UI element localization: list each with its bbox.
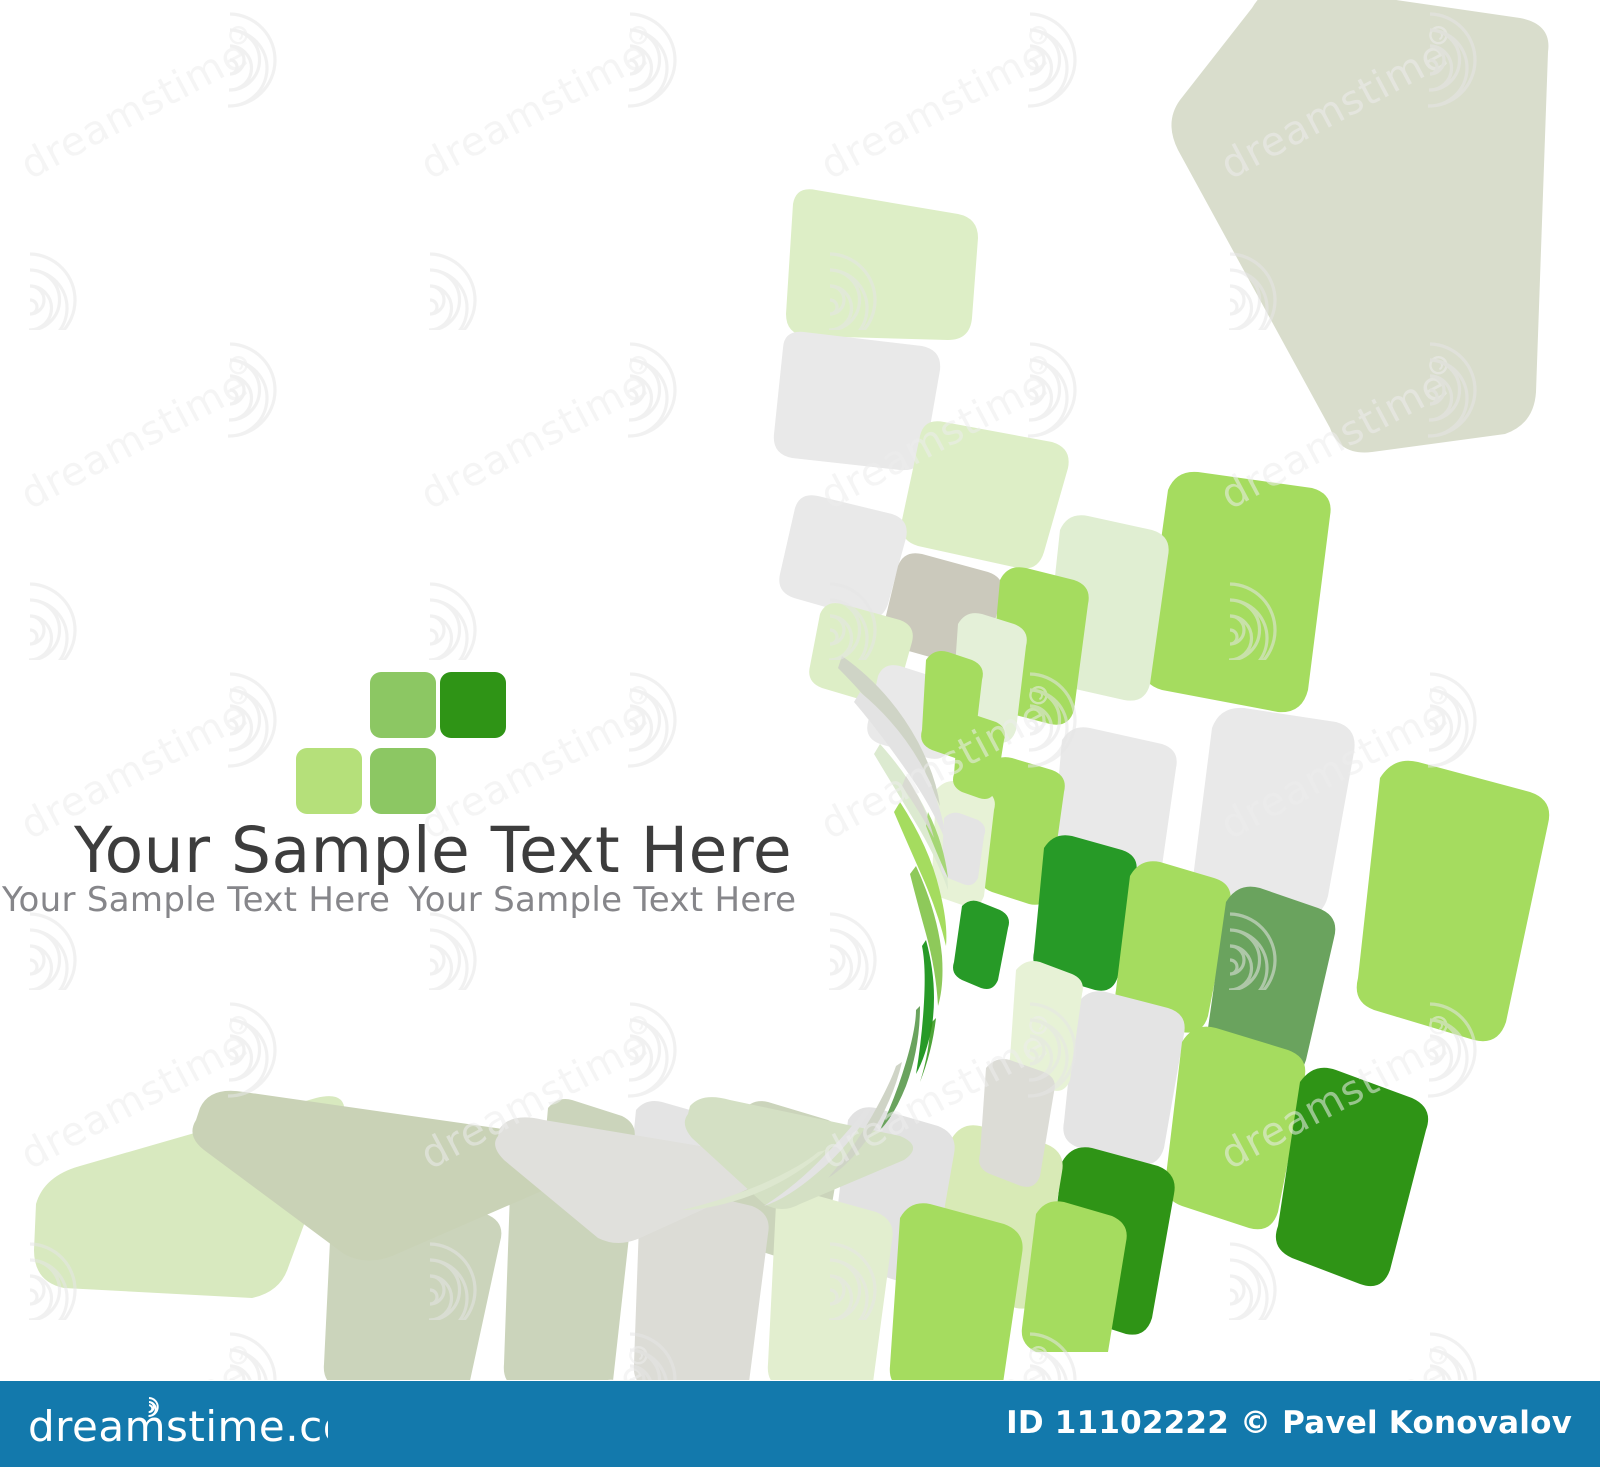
dreamstime-wordmark-logo: dreamstime.com [28,1397,328,1457]
four-square-logo-mark [296,672,516,812]
stock-image-canvas: .t{stroke:none} [0,0,1600,1467]
tile-lower-darkgreen-1 [1276,1068,1428,1286]
subline-text: Your Sample Text HereYour Sample Text He… [2,880,796,921]
logo-square-top-left [370,672,436,738]
logo-square-top-right [440,672,506,738]
tile-upper-1 [786,189,978,340]
tile-tail-pale-1 [768,1191,893,1380]
tile-lower-gray-1 [1063,991,1184,1164]
svg-text:dreamstime.com: dreamstime.com [28,1402,328,1451]
tile-upper-4 [779,495,906,619]
subline-left-text: Your Sample Text Here [2,880,390,920]
tile-green-bigright [1357,761,1549,1041]
tile-large-gray-topright [1171,0,1548,452]
tile-tail-green-1 [890,1203,1023,1380]
tile-upper-3 [901,421,1068,568]
subline-right-text: Your Sample Text Here [408,880,796,920]
tile-upper-2 [774,332,940,470]
headline-text: Your Sample Text Here [74,818,792,884]
logo-square-bottom-right [370,748,436,814]
tile-vortex-darkgreen-a [953,901,1009,989]
sliver-6 [916,940,934,1074]
abstract-mosaic-artwork: .t{stroke:none} [0,0,1600,1380]
tile-green-fan-1 [1143,472,1330,712]
dreamstime-footer-bar: dreamstime.com ID 11102222 © Pavel Konov… [0,1381,1600,1467]
image-credit-text: ID 11102222 © Pavel Konovalov [1006,1405,1572,1441]
logo-square-bottom-left [296,748,362,814]
tile-vortex-green-b [1022,1201,1127,1352]
